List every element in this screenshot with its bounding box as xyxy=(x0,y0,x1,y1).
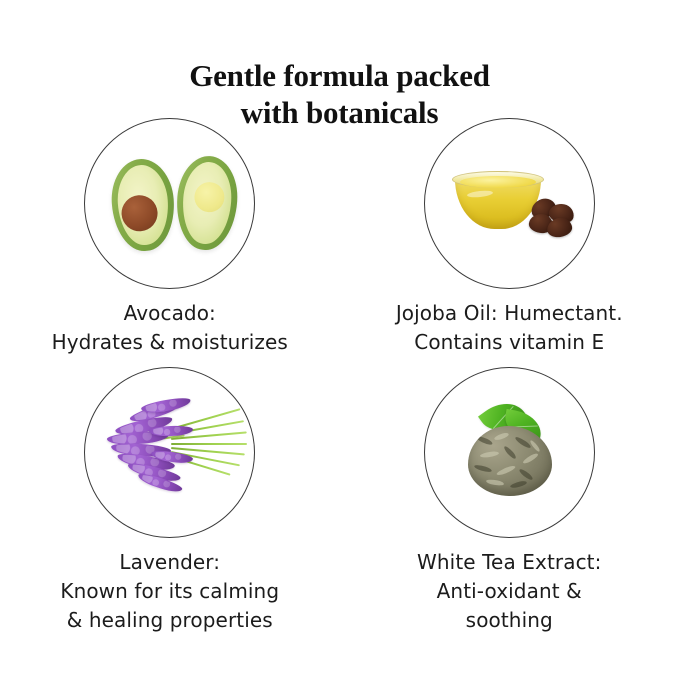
ingredient-image-circle-avocado xyxy=(84,118,255,289)
lavender-flower-spike xyxy=(149,425,193,437)
avocado-halves-image xyxy=(85,119,254,288)
ingredient-card-avocado: Avocado: Hydrates & moisturizes xyxy=(0,118,340,367)
tea-curl xyxy=(496,464,516,476)
ingredient-caption-white-tea: White Tea Extract: Anti-oxidant & soothi… xyxy=(417,548,601,635)
lavender-bouquet-image xyxy=(85,368,254,537)
jojoba-oil-bowl-image xyxy=(425,119,594,288)
caption-line: Known for its calming xyxy=(60,577,279,606)
caption-line: soothing xyxy=(417,606,601,635)
ingredient-image-circle-jojoba-oil xyxy=(424,118,595,289)
tea-curl xyxy=(522,452,539,465)
tea-curl xyxy=(518,468,534,482)
tea-curl xyxy=(475,435,493,446)
caption-line: White Tea Extract: xyxy=(417,548,601,577)
tea-curl xyxy=(514,435,532,449)
ingredient-caption-jojoba-oil: Jojoba Oil: Humectant. Contains vitamin … xyxy=(396,299,623,357)
avocado-half-with-pit xyxy=(109,157,177,253)
ingredient-image-circle-white-tea xyxy=(424,367,595,538)
tea-curl xyxy=(509,480,527,489)
tea-curl xyxy=(503,445,517,460)
caption-line: Avocado: xyxy=(52,299,288,328)
tea-curl xyxy=(473,464,492,474)
dried-tea-leaves-pile xyxy=(468,426,552,496)
tea-curl xyxy=(485,478,504,486)
ingredient-caption-avocado: Avocado: Hydrates & moisturizes xyxy=(52,299,288,357)
ingredient-caption-lavender: Lavender: Known for its calming & healin… xyxy=(60,548,279,635)
caption-line: & healing properties xyxy=(60,606,279,635)
white-tea-leaves-image xyxy=(425,368,594,537)
lavender-stem xyxy=(171,443,247,445)
oil-surface xyxy=(460,176,536,188)
caption-line: Lavender: xyxy=(60,548,279,577)
ingredient-card-jojoba-oil: Jojoba Oil: Humectant. Contains vitamin … xyxy=(340,118,679,367)
ingredient-benefits-poster: Gentle formula packed with botanicals xyxy=(0,0,679,679)
ingredient-card-lavender: Lavender: Known for its calming & healin… xyxy=(0,367,340,616)
ingredients-grid: Avocado: Hydrates & moisturizes Jo xyxy=(0,118,679,616)
caption-line: Anti-oxidant & xyxy=(417,577,601,606)
tea-curl xyxy=(479,451,499,459)
caption-line: Jojoba Oil: Humectant. xyxy=(396,299,623,328)
caption-line: Contains vitamin E xyxy=(396,328,623,357)
avocado-half-without-pit xyxy=(174,154,240,252)
caption-line: Hydrates & moisturizes xyxy=(52,328,288,357)
tea-curl xyxy=(493,432,509,441)
ingredient-card-white-tea: White Tea Extract: Anti-oxidant & soothi… xyxy=(340,367,679,616)
page-title-line-1: Gentle formula packed xyxy=(0,57,679,94)
ingredient-image-circle-lavender xyxy=(84,367,255,538)
